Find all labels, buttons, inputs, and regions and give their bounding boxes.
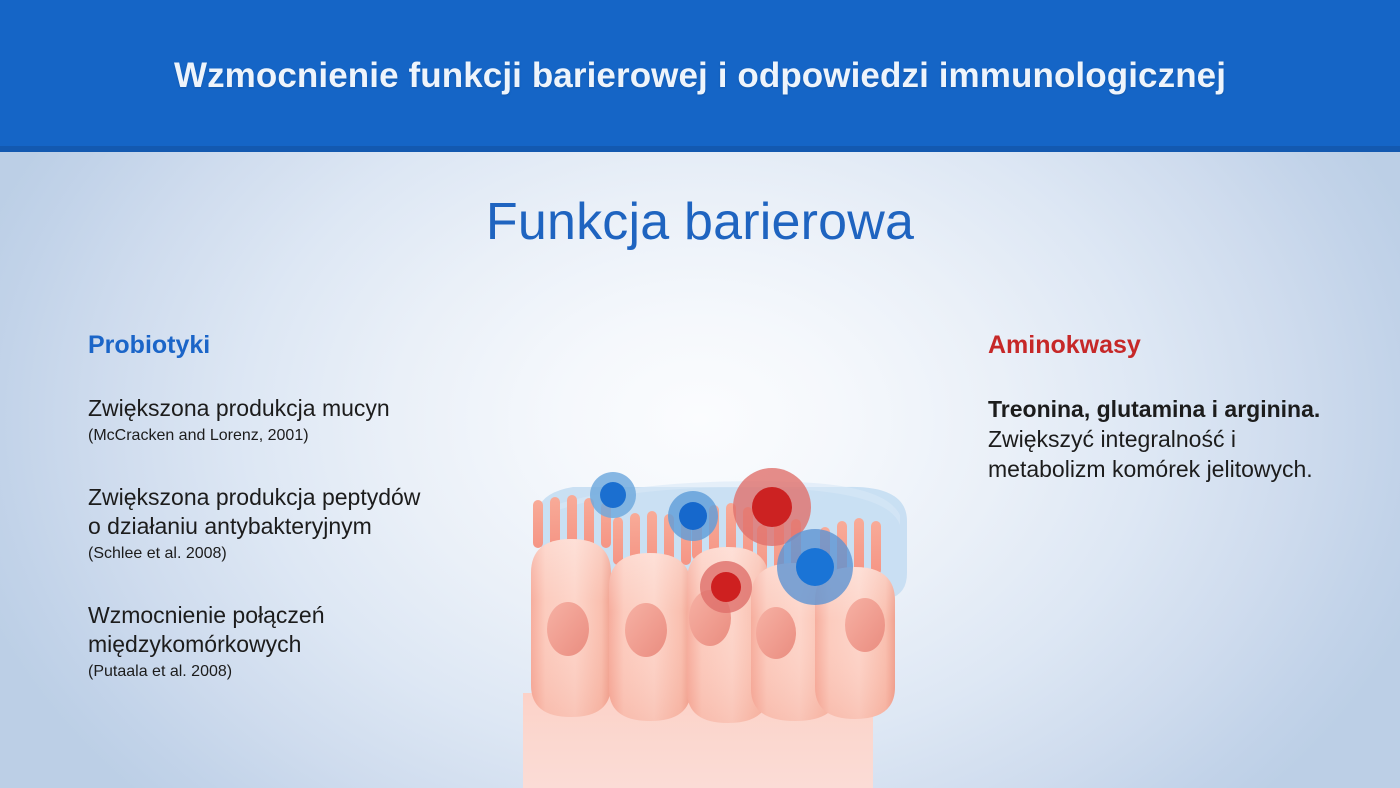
blue-bacterium-icon — [777, 529, 853, 605]
right-column: Aminokwasy Treonina, glutamina i arginin… — [988, 332, 1388, 485]
right-column-lead-text: Treonina, glutamina i arginina. — [988, 394, 1388, 424]
right-column-body: Treonina, glutamina i arginina. Zwiększy… — [988, 394, 1388, 485]
list-item-citation: (Putaala et al. 2008) — [88, 662, 518, 681]
left-column-heading: Probiotyki — [88, 332, 518, 360]
slide-canvas: Wzmocnienie funkcji barierowej i odpowie… — [0, 0, 1400, 788]
cell-nucleus — [845, 598, 885, 652]
right-column-heading: Aminokwasy — [988, 332, 1388, 360]
epithelial-cell — [609, 553, 691, 721]
red-bacterium-icon — [700, 561, 752, 613]
left-column: Probiotyki Zwiększona produkcja mucyn (M… — [88, 332, 518, 708]
cell-nucleus — [756, 607, 796, 659]
list-item-text: Wzmocnienie połączeń międzykomórkowych — [88, 601, 518, 658]
list-item: Wzmocnienie połączeń międzykomórkowych (… — [88, 601, 518, 681]
section-title: Funkcja barierowa — [0, 192, 1400, 252]
list-item-citation: (Schlee et al. 2008) — [88, 544, 518, 563]
list-item: Zwiększona produkcja mucyn (McCracken an… — [88, 394, 518, 446]
list-item: Zwiększona produkcja peptydów o działani… — [88, 483, 518, 563]
intestinal-epithelium-illustration — [495, 455, 925, 788]
list-item-citation: (McCracken and Lorenz, 2001) — [88, 426, 518, 445]
list-item-text: Zwiększona produkcja mucyn — [88, 394, 518, 423]
blue-bacterium-icon — [590, 472, 636, 518]
cell-nucleus — [625, 603, 667, 657]
right-column-detail-text: Zwiększyć integralność i metabolizm komó… — [988, 424, 1388, 485]
epithelial-cell — [531, 539, 611, 717]
blue-bacterium-icon — [668, 491, 718, 541]
list-item-text: Zwiększona produkcja peptydów o działani… — [88, 483, 518, 540]
cell-nucleus — [547, 602, 589, 656]
page-title: Wzmocnienie funkcji barierowej i odpowie… — [0, 0, 1400, 152]
